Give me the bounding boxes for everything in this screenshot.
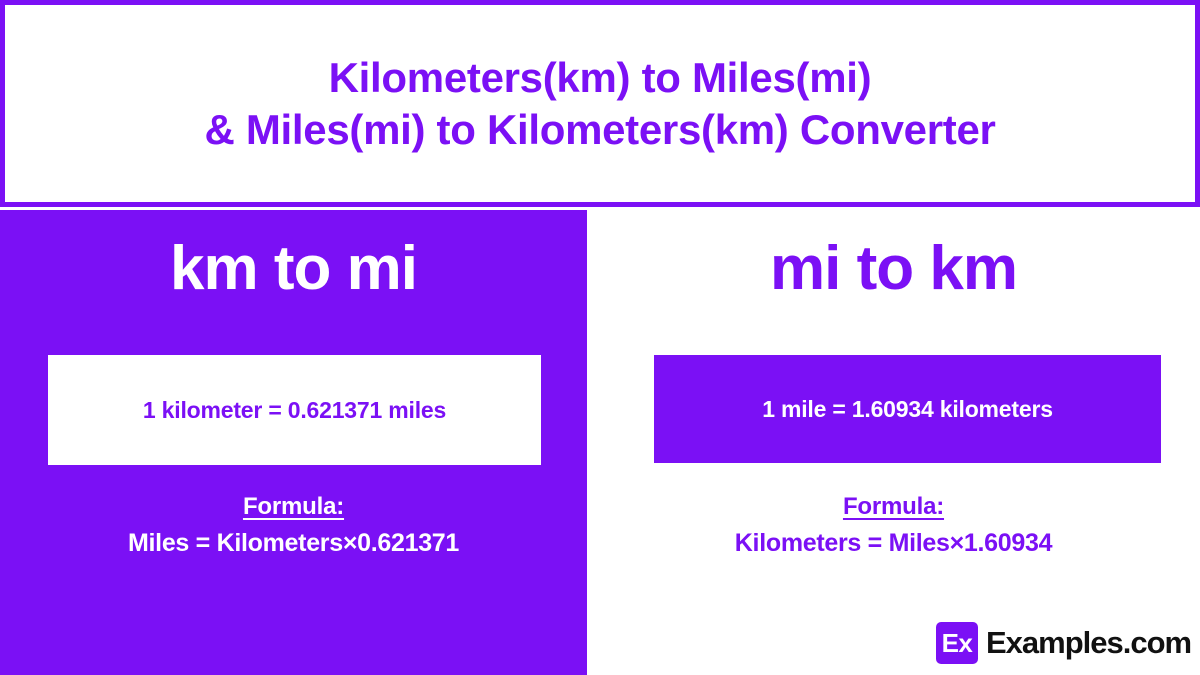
formula-block-mi-to-km: Formula: Kilometers = Miles×1.60934 bbox=[587, 493, 1200, 558]
brand-logo-text: Examples.com bbox=[986, 625, 1191, 661]
conversion-value-box-km-to-mi: 1 kilometer = 0.621371 miles bbox=[48, 355, 541, 465]
page-title: Kilometers(km) to Miles(mi) & Miles(mi) … bbox=[184, 52, 1015, 154]
formula-body-mi-to-km: Kilometers = Miles×1.60934 bbox=[587, 529, 1200, 558]
brand-logo: Ex Examples.com bbox=[936, 622, 1191, 664]
conversion-value-km-to-mi: 1 kilometer = 0.621371 miles bbox=[143, 397, 446, 424]
formula-label-mi-to-km: Formula: bbox=[843, 493, 944, 521]
examples-logo-icon: Ex bbox=[936, 622, 978, 664]
panel-heading-mi-to-km: mi to km bbox=[587, 238, 1200, 300]
header-banner: Kilometers(km) to Miles(mi) & Miles(mi) … bbox=[0, 0, 1200, 207]
formula-block-km-to-mi: Formula: Miles = Kilometers×0.621371 bbox=[0, 493, 587, 558]
panel-km-to-mi: km to mi 1 kilometer = 0.621371 miles Fo… bbox=[0, 210, 587, 675]
panel-heading-km-to-mi: km to mi bbox=[0, 238, 587, 300]
conversion-value-box-mi-to-km: 1 mile = 1.60934 kilometers bbox=[654, 355, 1161, 463]
converter-infographic: Kilometers(km) to Miles(mi) & Miles(mi) … bbox=[0, 0, 1200, 675]
formula-body-km-to-mi: Miles = Kilometers×0.621371 bbox=[0, 529, 587, 558]
formula-label-km-to-mi: Formula: bbox=[243, 493, 344, 521]
panel-mi-to-km: mi to km 1 mile = 1.60934 kilometers For… bbox=[587, 210, 1200, 675]
conversion-value-mi-to-km: 1 mile = 1.60934 kilometers bbox=[762, 396, 1053, 423]
